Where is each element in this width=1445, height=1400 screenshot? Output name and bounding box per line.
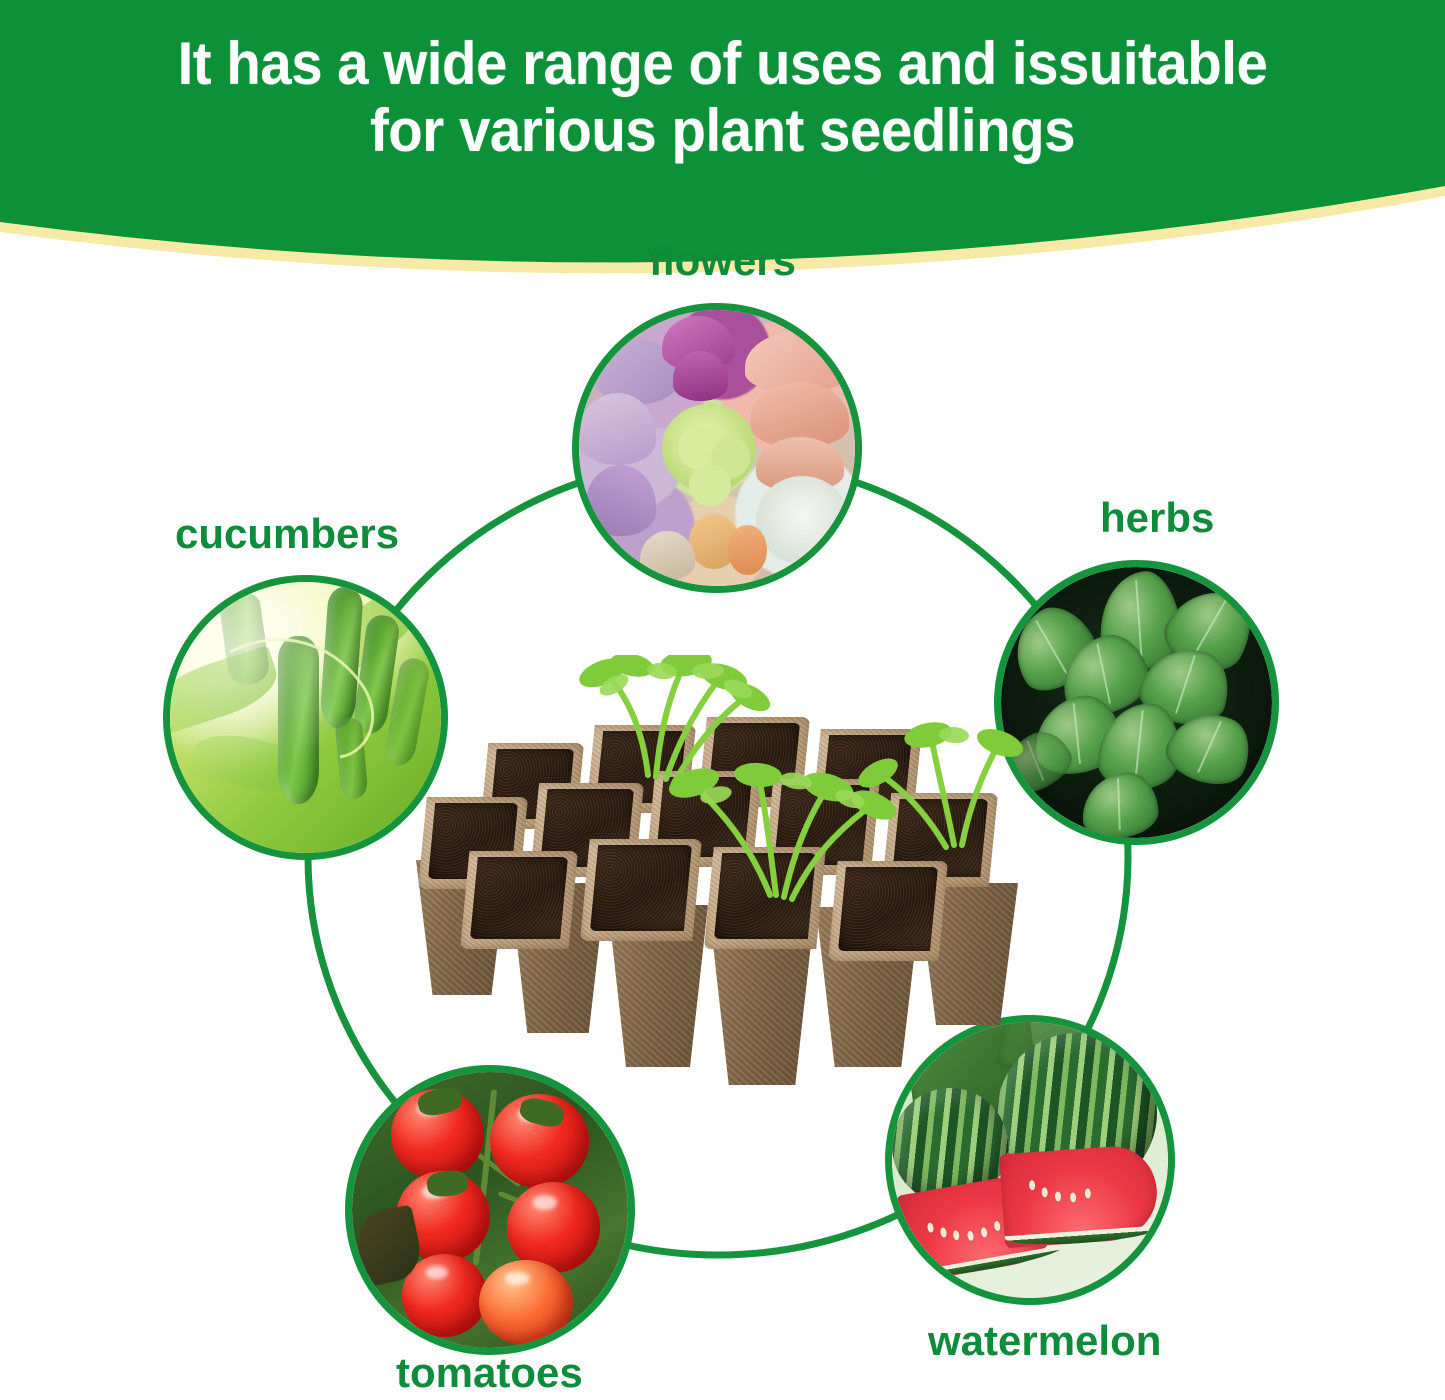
flowers-photo: [579, 310, 855, 586]
node-label-tomatoes: tomatoes: [396, 1352, 583, 1394]
node-circle-flowers[interactable]: [572, 303, 862, 593]
node-label-herbs: herbs: [1100, 497, 1214, 539]
node-label-cucumbers: cucumbers: [175, 513, 399, 555]
infographic-canvas: It has a wide range of uses and issuitab…: [0, 0, 1445, 1400]
node-label-watermelon: watermelon: [928, 1320, 1161, 1362]
herbs-photo: [1001, 567, 1272, 838]
tomatoes-photo: [352, 1072, 628, 1348]
node-circle-herbs[interactable]: [994, 560, 1279, 845]
node-label-flowers: flowers: [0, 240, 1445, 282]
seed-starter-tray[interactable]: [398, 655, 1026, 1085]
node-circle-tomatoes[interactable]: [345, 1065, 635, 1355]
